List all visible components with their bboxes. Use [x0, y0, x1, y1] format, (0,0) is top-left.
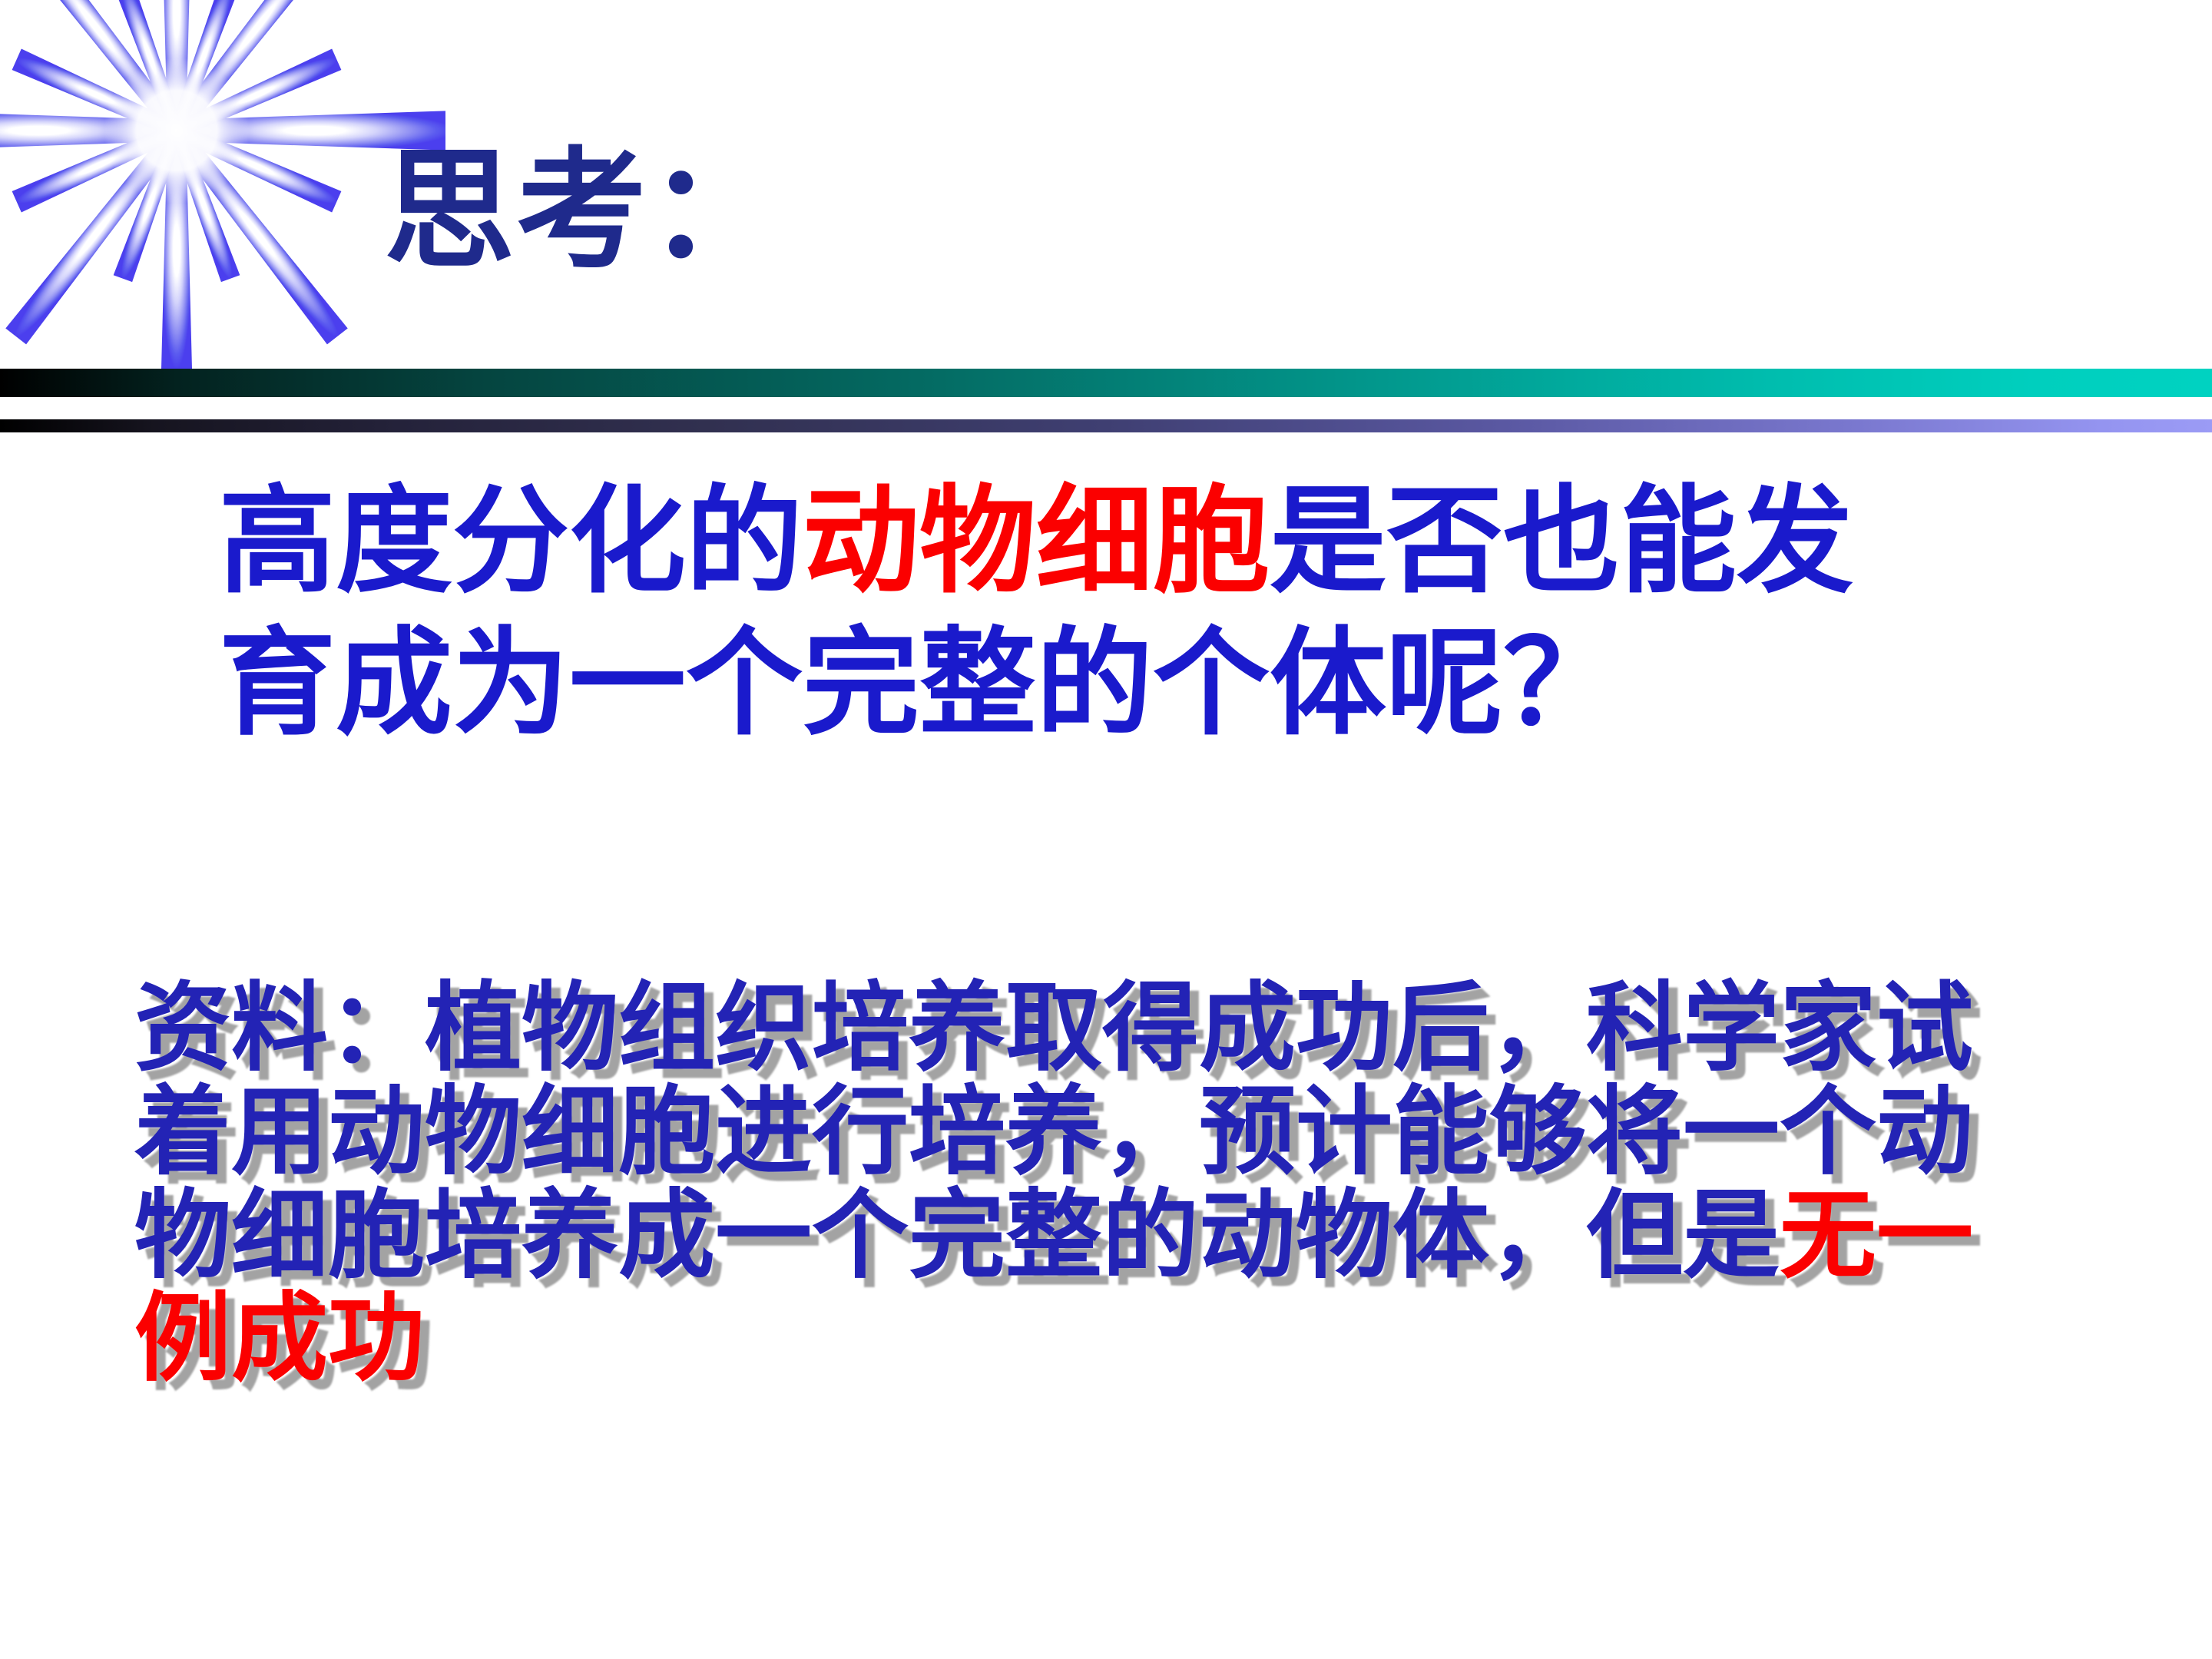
question-heading: 高度分化的动物细胞是否也能发育成为一个完整的个体呢？: [219, 470, 2101, 755]
page-title: 思考：: [384, 146, 780, 276]
title-row: 思考：: [0, 146, 2212, 323]
presentation-slide: 思考： 高度分化的动物细胞是否也能发育成为一个完整的个体呢？ 资料：植物组织培养…: [0, 0, 2212, 1659]
heading-text: 是否也能发: [1270, 473, 1853, 609]
heading-text: 育成为一个完整的个体呢？: [219, 615, 1620, 751]
body-line-2: 着用动物细胞进行培养，预计能够将一个动: [134, 1081, 2101, 1184]
body-line-4: 例成功: [134, 1287, 2101, 1391]
body-line-3: 物细胞培养成一个完整的动物体，但是无一: [134, 1184, 2101, 1288]
body-text: 物细胞培养成一个完整的动物体，但是: [134, 1179, 1780, 1292]
heading-text: 高度分化的: [219, 473, 803, 609]
body-text: 着用动物细胞进行培养，预计能够将一个动: [134, 1075, 1973, 1188]
body-highlight: 无一: [1780, 1179, 1973, 1292]
body-line-1: 资料：植物组织培养取得成功后，科学家试: [134, 977, 2101, 1081]
heading-line-2: 育成为一个完整的个体呢？: [219, 615, 1620, 751]
material-paragraph: 资料：植物组织培养取得成功后，科学家试着用动物细胞进行培养，预计能够将一个动物细…: [134, 977, 2101, 1391]
body-text: 资料：植物组织培养取得成功后，科学家试: [134, 972, 1973, 1084]
teal-divider: [0, 369, 2212, 397]
heading-line-1: 高度分化的动物细胞是否也能发: [219, 473, 1853, 609]
body-highlight: 例成功: [134, 1282, 425, 1395]
heading-highlight: 动物细胞: [803, 473, 1270, 609]
purple-divider: [0, 419, 2212, 432]
